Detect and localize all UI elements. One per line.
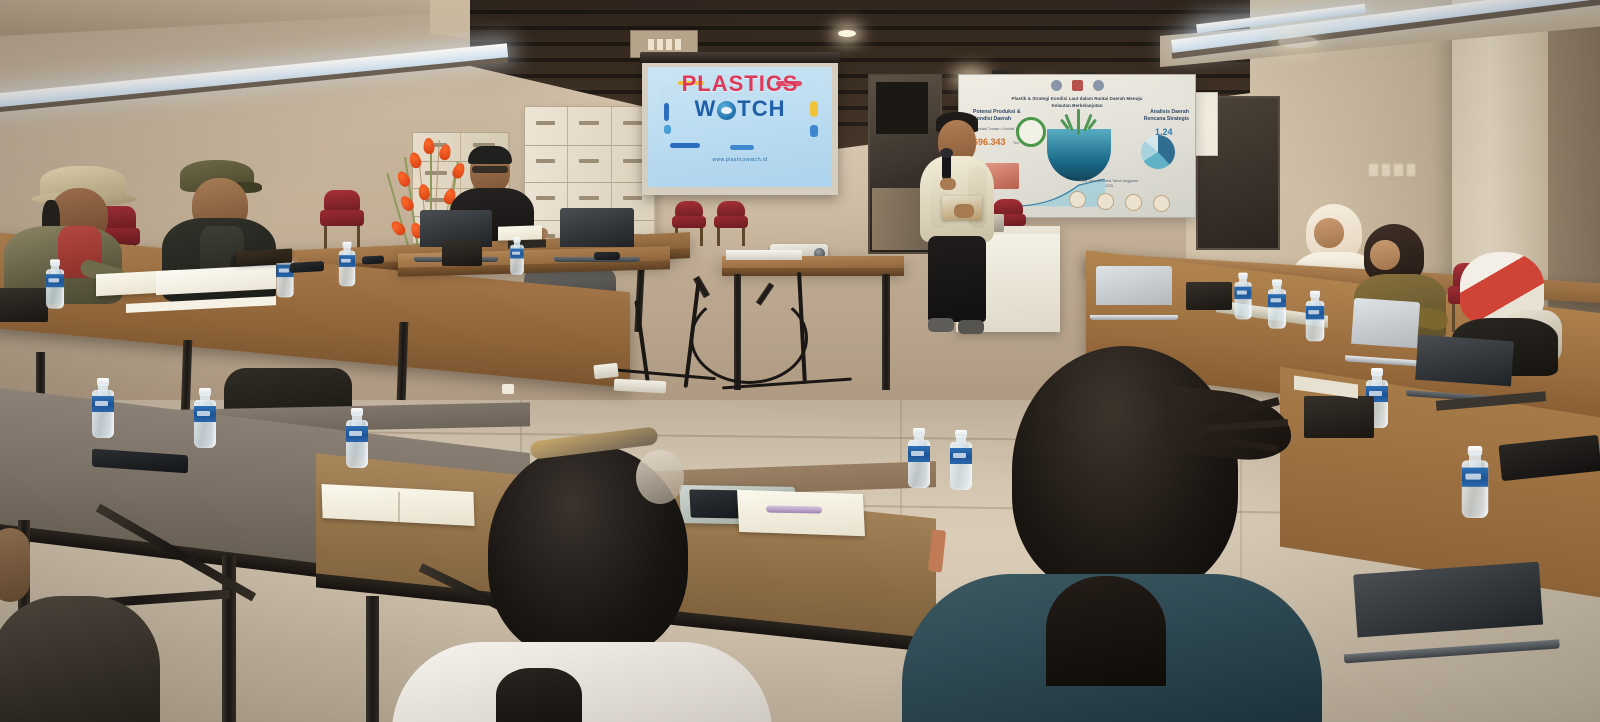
projected-slide: PLASTICS WTCH www.plasticswatch.id <box>648 67 832 187</box>
slide-decor-can <box>810 125 818 137</box>
banquet-chair[interactable] <box>714 216 748 242</box>
poster-logo-row <box>959 80 1195 91</box>
wall-wash-light <box>1278 36 1318 48</box>
microphone-head <box>940 148 953 158</box>
closed-notebook <box>236 249 292 266</box>
poster-logo-icon <box>1051 80 1062 91</box>
foreground-participant-teal-top <box>906 336 1326 722</box>
laptop[interactable] <box>1414 335 1514 404</box>
table-leg <box>366 596 379 722</box>
tissue-box <box>1186 282 1232 310</box>
globe-icon <box>717 101 736 120</box>
laptop[interactable] <box>1096 266 1172 320</box>
poster-icon-tonase <box>1097 193 1114 210</box>
slide-logo-text: PLASTICS WTCH <box>648 73 832 120</box>
hair-lower <box>1046 576 1166 686</box>
presenter-with-microphone <box>914 112 1000 334</box>
water-bottle[interactable] <box>339 242 355 286</box>
dark-trousers <box>928 236 986 322</box>
laptop[interactable] <box>1353 562 1545 663</box>
poster-icon-produksi <box>1069 191 1086 208</box>
eyeglasses <box>472 166 508 173</box>
poster-coral-icon <box>1067 109 1091 135</box>
tissue-box <box>442 240 482 266</box>
water-bottle[interactable] <box>1462 446 1488 518</box>
seated-participant-arm <box>0 528 30 602</box>
slide-word-watch: WTCH <box>695 96 786 121</box>
phone[interactable] <box>594 252 620 260</box>
laptop[interactable] <box>1350 298 1420 366</box>
slide-decor-cup <box>664 125 671 134</box>
head-back <box>1012 346 1238 596</box>
shoe-left[interactable] <box>928 318 954 332</box>
table-leg <box>882 274 890 390</box>
floor-item <box>502 384 514 394</box>
water-bottle[interactable] <box>1306 291 1324 341</box>
ceiling-downlight <box>838 30 856 37</box>
meeting-room-photo: PLASTICS WTCH www.plasticswatch.id <box>0 0 1600 722</box>
water-bottle[interactable] <box>1234 273 1251 320</box>
face <box>1370 240 1400 270</box>
banquet-chair[interactable] <box>320 210 364 244</box>
water-bottle[interactable] <box>46 259 64 308</box>
poster-certification-badge <box>1016 117 1046 147</box>
eyeglasses-lens <box>636 450 684 504</box>
hand-holding-mic <box>940 178 956 190</box>
poster-header-text: Plastik & Strategi Kondisi Laut dalam Ra… <box>1011 95 1143 109</box>
water-bottle[interactable] <box>1268 279 1286 328</box>
water-bottle[interactable] <box>346 408 368 468</box>
slide-decor-spoon <box>730 145 754 150</box>
poster-logo-icon <box>1072 80 1083 91</box>
cable-loop <box>690 292 808 384</box>
water-bottle[interactable] <box>510 237 524 274</box>
poster-pie-chart <box>1141 135 1175 169</box>
face <box>1314 218 1344 248</box>
phone[interactable] <box>290 261 324 273</box>
water-bottle[interactable] <box>194 388 216 448</box>
wall-switch-plate[interactable] <box>1368 163 1416 177</box>
poster-logo-icon <box>1093 80 1104 91</box>
poster-right-column-title: Analisis Daerah Rencana Strategis <box>1135 109 1189 124</box>
seated-participant-partial <box>0 596 160 722</box>
power-adapter <box>593 363 618 379</box>
water-bottle[interactable] <box>92 378 114 438</box>
table-edge <box>722 268 904 276</box>
hair <box>468 146 512 164</box>
hair-lower <box>496 668 582 722</box>
slide-subtitle: www.plasticswatch.id <box>648 157 832 163</box>
poster-secondary-chart <box>1135 175 1183 205</box>
projection-screen: PLASTICS WTCH www.plasticswatch.id <box>640 52 840 200</box>
screen-housing <box>640 52 840 63</box>
phone[interactable] <box>362 255 384 264</box>
poster-bottom-caption: Peta Jalur Rencana Tahun Anggaran 2025 <box>1079 179 1139 190</box>
screen-frame: PLASTICS WTCH www.plasticswatch.id <box>642 63 838 195</box>
slide-decor-cutlery <box>670 143 700 148</box>
pen[interactable] <box>766 505 822 513</box>
white-top-shoulders <box>392 642 772 722</box>
poster-left-stat-unit: Ton <box>1013 141 1019 146</box>
tissue-box <box>0 288 48 322</box>
slide-word-plastics: PLASTICS <box>682 71 799 96</box>
shoe-right[interactable] <box>958 320 984 334</box>
paper-on-projector-table <box>726 250 802 260</box>
hand-holding-notebook <box>954 204 974 218</box>
poster-ocean-illustration <box>1047 129 1111 181</box>
foreground-participant-white-top <box>392 432 772 722</box>
